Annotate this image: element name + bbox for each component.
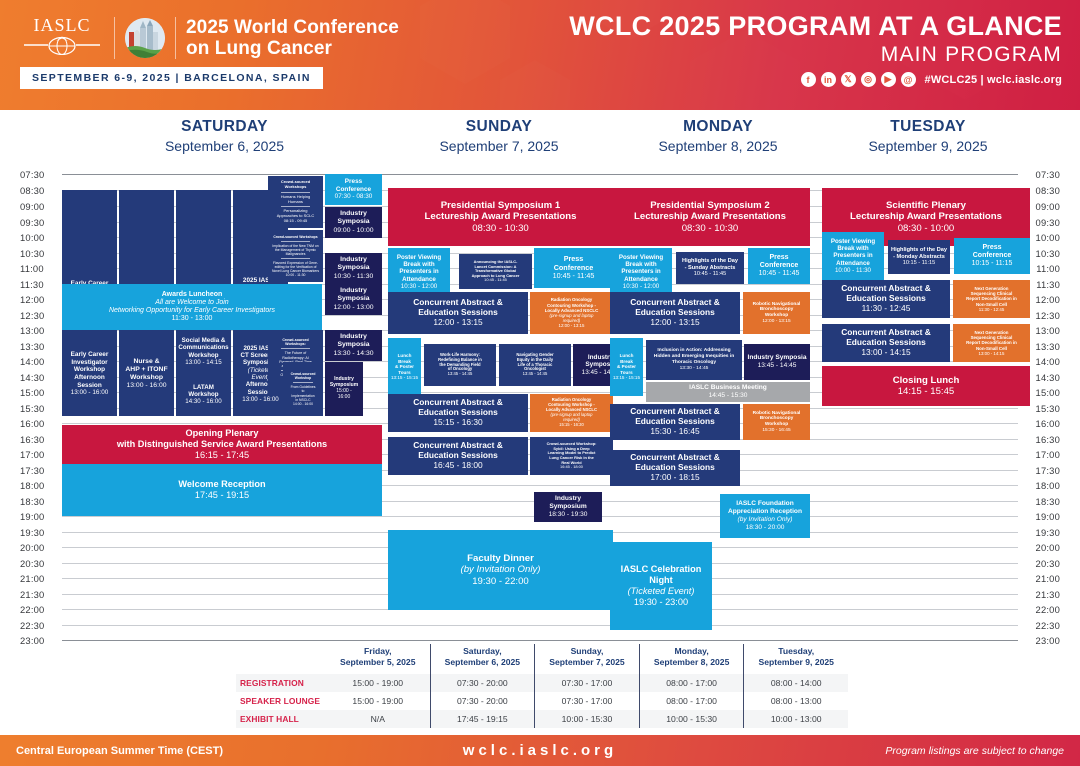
youtube-icon[interactable]: ▶ (881, 72, 896, 87)
conference-name: 2025 World Conference on Lung Cancer (186, 17, 399, 60)
table-header-row: Friday,September 5, 2025Saturday,Septemb… (236, 644, 848, 674)
column-header: Friday,September 5, 2025 (326, 644, 430, 674)
event-title: Opening Plenarywith Distinguished Servic… (117, 428, 327, 450)
day-date: September 9, 2025 (822, 138, 1034, 154)
divider-2 (175, 17, 176, 59)
time-label-1730: 17:30 (1036, 465, 1060, 476)
hours-cell: 10:00 - 15:30 (639, 710, 744, 728)
event-block-mon-ind1[interactable]: Industry Symposia13:45 - 14:45 (744, 344, 810, 380)
divider-2 (281, 258, 310, 259)
event-time: 14:45 - 15:30 (709, 392, 748, 400)
event-time: 13:15 - 15:15 (391, 375, 418, 380)
event-title: Robotic NavigationalBronchoscopyWorkshop (753, 302, 801, 319)
event-title: Navigating GenderEquity in the DailyLife… (516, 353, 553, 373)
facebook-icon[interactable]: f (801, 72, 816, 87)
time-label-1130: 11:30 (1036, 279, 1060, 290)
event-block-sat-eci-pm[interactable]: Early CareerInvestigatorWorkshopAfternoo… (62, 332, 117, 416)
event-block-sun-lunch[interactable]: LunchBreak& PosterTours13:15 - 15:15 (388, 338, 421, 396)
event-time: 13:15 - 15:15 (613, 375, 640, 380)
event-title: Early CareerInvestigatorWorkshop (71, 351, 109, 374)
conference-name-line1: 2025 World Conference (186, 17, 399, 38)
time-label-1500: 15:00 (1036, 387, 1060, 398)
time-label-1300: 13:00 (1036, 325, 1060, 336)
time-label-1400: 14:00 (20, 356, 44, 367)
event-title: Welcome Reception (178, 479, 265, 490)
instagram-icon[interactable]: ◎ (861, 72, 876, 87)
event-block-sun-worklife[interactable]: Work-Life Harmony:Redefining Balance int… (424, 344, 496, 386)
divider-2 (281, 206, 310, 207)
page-title: WCLC 2025 PROGRAM AT A GLANCE (569, 12, 1062, 41)
event-time: 13:00 - 14:15 (861, 348, 910, 358)
divider (281, 241, 310, 242)
event-block-mon-caes1[interactable]: Concurrent Abstract &Education Sessions1… (610, 292, 740, 334)
event-title: IASLC Business Meeting (689, 384, 767, 392)
iaslc-logo: IASLC (20, 16, 104, 60)
event-time: 13:00 - 14:15 (185, 359, 221, 366)
event-time: 15:30 - 16:45 (650, 427, 699, 437)
day-header-tuesday: TUESDAY September 9, 2025 (822, 118, 1034, 154)
event-title: Robotic NavigationalBronchoscopyWorkshop (753, 411, 801, 428)
event-time: 07:30 - 08:30 (335, 193, 373, 201)
event-title: IndustrySymposia (337, 287, 369, 303)
row-label: EXHIBIT HALL (236, 710, 326, 728)
event-block-mon-robo2[interactable]: Robotic NavigationalBronchoscopyWorkshop… (743, 404, 810, 440)
time-label-0930: 09:30 (20, 217, 44, 228)
event-title: Concurrent Abstract &Education Sessions (841, 328, 931, 348)
day-header-saturday: SATURDAY September 6, 2025 (62, 118, 387, 154)
column-header: Sunday,September 7, 2025 (535, 644, 640, 674)
threads-icon[interactable]: @ (901, 72, 916, 87)
event-time: 13:00 - 16:00 (126, 382, 166, 390)
time-label-1000: 10:00 (20, 232, 44, 243)
event-time: 12:00 - 13:15 (650, 318, 699, 328)
event-time: 14:00 - 16:00 (293, 402, 313, 406)
time-label-1900: 19:00 (1036, 511, 1060, 522)
event-title: Social Media &CommunicationsWorkshop (178, 337, 228, 359)
event-time: 13:45 - 14:45 (758, 362, 797, 370)
time-label-1730: 17:30 (20, 465, 44, 476)
hours-cell: 08:00 - 13:00 (744, 692, 848, 710)
event-title: Radiation OncologyContouring Workshop -L… (545, 297, 599, 313)
event-title: Presidential Symposium 2Lectureship Awar… (634, 200, 786, 223)
event-title: Concurrent Abstract &Education Sessions (630, 407, 720, 427)
event-block-sat-cs4[interactable]: Crowd-sourcedWorkshopFrom GuidelinestoIm… (283, 362, 323, 416)
time-label-2030: 20:30 (20, 558, 44, 569)
venue-hours-table: Friday,September 5, 2025Saturday,Septemb… (236, 644, 848, 728)
event-block-sun-press[interactable]: PressConference10:45 - 11:45 (534, 248, 613, 288)
event-title: Crowd-sourced Workshops (273, 235, 317, 239)
event-block-tue-ngs1[interactable]: Next GenerationSequencing ClinicalReport… (953, 280, 1030, 318)
hours-cell: 07:30 - 17:00 (535, 692, 640, 710)
day-headers: SATURDAY September 6, 2025 SUNDAY Septem… (0, 118, 1080, 166)
event-title: Announcing the IASLC-Lancet Commission: … (472, 260, 520, 278)
day-name: SUNDAY (388, 118, 610, 136)
event-time: 08:30 - 10:30 (472, 223, 529, 234)
date-location-badge: SEPTEMBER 6-9, 2025 | BARCELONA, SPAIN (20, 67, 323, 89)
event-title: LunchBreak& PosterTours (617, 353, 636, 375)
event-time: 11:30 - 13:00 (172, 315, 213, 323)
event-title: Highlights of the Day- Monday Abstracts (891, 247, 947, 260)
event-block-sun-rad1[interactable]: Radiation OncologyContouring Workshop -L… (530, 292, 613, 334)
event-title: IASLC FoundationAppreciation Reception (728, 500, 802, 516)
time-label-1600: 16:00 (20, 418, 44, 429)
hours-cell: 08:00 - 17:00 (639, 674, 744, 692)
event-block-sun-dinner[interactable]: Faculty Dinner(by Invitation Only)19:30 … (388, 530, 613, 610)
hashtag-label: #WCLC25 | wclc.iaslc.org (925, 74, 1062, 86)
event-title: IndustrySymposia (337, 210, 369, 226)
event-block-sun-lancet[interactable]: Announcing the IASLC-Lancet Commission: … (459, 254, 532, 289)
hours-cell: 07:30 - 20:00 (430, 674, 535, 692)
event-time: 09:00 - 10:00 (333, 227, 373, 235)
event-time: 13:00 - 16:00 (71, 389, 109, 397)
hours-cell: 15:00 - 19:00 (326, 692, 430, 710)
event-title: Next GenerationSequencing ClinicalReport… (966, 286, 1017, 307)
divider (281, 192, 310, 193)
time-label-1030: 10:30 (20, 248, 44, 259)
event-title: Radiation OncologyContouring Workshop -L… (546, 398, 597, 413)
time-label-0730: 07:30 (1036, 169, 1060, 180)
event-time: 10:45 - 11:45 (484, 278, 507, 283)
divider (293, 382, 313, 383)
event-block-sat-cs1[interactable]: Crowd-sourcedWorkshopsHumans HelpingHuma… (268, 176, 323, 228)
hours-cell: 08:00 - 14:00 (744, 674, 848, 692)
event-title: IASLC CelebrationNight (621, 564, 702, 586)
event-time: 14:15 - 15:45 (898, 386, 955, 397)
social-links: f in 𝕏 ◎ ▶ @ #WCLC25 | wclc.iaslc.org (569, 72, 1062, 87)
event-time: 17:00 - 18:15 (650, 473, 699, 483)
linkedin-icon[interactable]: in (821, 72, 836, 87)
time-label-0900: 09:00 (20, 201, 44, 212)
event-block-sun-caes1[interactable]: Concurrent Abstract &Education Sessions1… (388, 292, 528, 334)
time-label-1530: 15:30 (20, 403, 44, 414)
time-label-1130: 11:30 (20, 279, 44, 290)
table-body: REGISTRATION15:00 - 19:0007:30 - 20:0007… (236, 674, 848, 728)
page-subtitle: MAIN PROGRAM (569, 42, 1062, 67)
column-header: Tuesday,September 9, 2025 (744, 644, 848, 674)
hours-cell: 07:30 - 20:00 (430, 692, 535, 710)
event-block-sat-social[interactable]: Social Media &CommunicationsWorkshop13:0… (176, 332, 231, 371)
grid-line (62, 625, 1018, 626)
divider (114, 17, 115, 59)
event-time: 13:30 - 14:30 (333, 350, 373, 358)
event-title: Poster ViewingBreak withPresenters inAtt… (831, 238, 875, 267)
event-block-tue-closing[interactable]: Closing Lunch14:15 - 15:45 (822, 366, 1030, 406)
event-time: 08:30 - 10:00 (898, 223, 955, 234)
event-time: 13:45 - 14:45 (523, 372, 548, 377)
event-block-mon-business[interactable]: IASLC Business Meeting14:45 - 15:30 (646, 382, 810, 402)
time-label-1030: 10:30 (1036, 248, 1060, 259)
event-title: Concurrent Abstract &Education Sessions (841, 284, 931, 304)
event-title: PressConference (973, 244, 1012, 261)
event-block-tue-caes2[interactable]: Concurrent Abstract &Education Sessions1… (822, 324, 950, 362)
event-block-sat-opening[interactable]: Opening Plenarywith Distinguished Servic… (62, 425, 382, 464)
event-time: 15:00 -16:00 (336, 389, 352, 401)
x-twitter-icon[interactable]: 𝕏 (841, 72, 856, 87)
time-label-1200: 12:00 (20, 294, 44, 305)
time-label-2000: 20:00 (20, 542, 44, 553)
event-block-sun-gender[interactable]: Navigating GenderEquity in the DailyLife… (499, 344, 571, 386)
event-block-sat-ind1[interactable]: IndustrySymposia09:00 - 10:00 (325, 207, 382, 238)
time-label-1500: 15:00 (20, 387, 44, 398)
time-label-2200: 22:00 (1036, 604, 1060, 615)
event-block-mon-celebration[interactable]: IASLC CelebrationNight(Ticketed Event)19… (610, 542, 712, 630)
event-time: 18:30 - 19:30 (549, 511, 588, 519)
divider (281, 348, 310, 349)
row-label: SPEAKER LOUNGE (236, 692, 326, 710)
time-label-1300: 13:00 (20, 325, 44, 336)
time-label-1930: 19:30 (1036, 527, 1060, 538)
time-label-2100: 21:00 (20, 573, 44, 584)
event-block-mon-press[interactable]: PressConference10:45 - 11:45 (748, 248, 810, 284)
event-subtitle: All are Welcome to JoinNetworking Opport… (109, 299, 275, 316)
time-label-1330: 13:30 (1036, 341, 1060, 352)
event-title: Closing Lunch (893, 375, 960, 386)
event-title: Scientific PlenaryLectureship Award Pres… (850, 200, 1002, 223)
time-label-1400: 14:00 (1036, 356, 1060, 367)
time-label-2130: 21:30 (1036, 589, 1060, 600)
event-subtitle: (Ticketed Event) (628, 586, 695, 597)
event-time: 16:45 - 18:00 (560, 465, 583, 470)
event-title: Concurrent Abstract &Education Sessions (630, 298, 720, 318)
time-label-1830: 18:30 (1036, 496, 1060, 507)
hours-cell: 15:00 - 19:00 (326, 674, 430, 692)
event-title: Concurrent Abstract &Education Sessions (413, 298, 503, 318)
event-time: 12:00 - 13:15 (433, 318, 482, 328)
event-subtitle: (by Invitation Only) (461, 564, 541, 575)
time-label-2230: 22:30 (20, 620, 44, 631)
event-time: 08:30 - 10:30 (682, 223, 739, 234)
event-block-mon-inclusion[interactable]: Inclusion in Action: AddressingHidden an… (646, 340, 742, 380)
event-title: IndustrySymposium (549, 495, 586, 511)
event-title: Highlights of the Day- Sunday Abstracts (682, 258, 738, 271)
event-time: 10:30 - 12:00 (401, 283, 437, 290)
event-subtitle: (by Invitation Only) (738, 516, 793, 524)
time-label-1830: 18:30 (20, 496, 44, 507)
event-time: 13:00 - 16:00 (242, 396, 278, 403)
hours-cell: 10:00 - 13:00 (744, 710, 848, 728)
event-time: 13:00 - 14:15 (979, 351, 1005, 356)
event-block-sat-ind4[interactable]: IndustrySymposia13:30 - 14:30 (325, 330, 382, 361)
event-title: Concurrent Abstract &Education Sessions (413, 441, 503, 461)
event-title: Poster ViewingBreak withPresenters inAtt… (619, 254, 663, 283)
time-label-1230: 12:30 (1036, 310, 1060, 321)
day-header-monday: MONDAY September 8, 2025 (610, 118, 826, 154)
time-label-1330: 13:30 (20, 341, 44, 352)
barcelona-skyline-icon (125, 18, 165, 58)
time-label-0900: 09:00 (1036, 201, 1060, 212)
event-title: LATAMWorkshop (188, 384, 218, 399)
time-label-1100: 11:00 (20, 263, 44, 274)
event-time: 10:15 - 11:15 (972, 260, 1013, 268)
event-block-mon-caes3[interactable]: Concurrent Abstract &Education Sessions1… (610, 450, 740, 486)
disclaimer-label: Program listings are subject to change (885, 745, 1064, 757)
event-detail: Implication of the New TNM on the Manage… (270, 244, 321, 256)
event-title: Crowd-sourcedWorkshops (281, 180, 310, 189)
event-block-sat-ind5[interactable]: IndustrySymposium15:00 -16:00 (325, 362, 363, 416)
time-label-1900: 19:00 (20, 511, 44, 522)
iaslc-globe-icon (20, 35, 104, 60)
time-label-1230: 12:30 (20, 310, 44, 321)
event-block-sat-awards[interactable]: Awards LuncheonAll are Welcome to JoinNe… (62, 284, 322, 330)
event-block-sat-cs2[interactable]: Crowd-sourced WorkshopsImplication of th… (268, 230, 323, 282)
hours-cell: 07:30 - 17:00 (535, 674, 640, 692)
time-label-1430: 14:30 (20, 372, 44, 383)
event-time: 19:30 - 22:00 (472, 576, 529, 587)
event-title: Concurrent Abstract &Education Sessions (413, 398, 503, 418)
time-label-1430: 14:30 (1036, 372, 1060, 383)
event-block-mon-high[interactable]: Highlights of the Day- Sunday Abstracts1… (676, 252, 744, 284)
event-time: 10:45 - 11:45 (694, 271, 727, 278)
time-label-1630: 16:30 (1036, 434, 1060, 445)
event-time: 17:45 - 19:15 (195, 490, 249, 501)
hours-cell: 17:45 - 19:15 (430, 710, 535, 728)
event-time: 14:30 - 16:00 (185, 398, 221, 405)
event-block-sat-ind2[interactable]: IndustrySymposia10:30 - 11:30 (325, 253, 382, 284)
event-block-sun-ind2[interactable]: IndustrySymposium18:30 - 19:30 (534, 492, 602, 522)
brand-block: IASLC (20, 16, 399, 89)
event-block-mon-robo1[interactable]: Robotic NavigationalBronchoscopyWorkshop… (743, 292, 810, 334)
event-time: 12:00 - 13:15 (762, 319, 790, 325)
day-date: September 8, 2025 (610, 138, 826, 154)
event-block-sat-ind3[interactable]: IndustrySymposia12:00 - 13:00 (325, 284, 382, 315)
event-title: Nurse &AHP + ITONFWorkshop (125, 358, 167, 382)
event-title: IndustrySymposia (337, 333, 369, 349)
column-header (236, 644, 326, 674)
event-block-mon-lunch[interactable]: LunchBreak& PosterTours13:15 - 15:15 (610, 338, 643, 396)
event-block-tue-poster[interactable]: Poster ViewingBreak withPresenters inAtt… (822, 232, 884, 280)
table-row: EXHIBIT HALLN/A17:45 - 19:1510:00 - 15:3… (236, 710, 848, 728)
event-time: 11:30 - 12:45 (862, 304, 911, 314)
event-title: Crowd-sourcedWorkshops: (282, 338, 308, 346)
time-label-1700: 17:00 (20, 449, 44, 460)
event-block-mon-caes2[interactable]: Concurrent Abstract &Education Sessions1… (610, 404, 740, 440)
day-header-sunday: SUNDAY September 7, 2025 (388, 118, 610, 154)
time-label-0930: 09:30 (1036, 217, 1060, 228)
event-time: 18:30 - 20:00 (746, 524, 785, 532)
event-block-tue-press[interactable]: PressConference10:15 - 11:15 (954, 238, 1030, 274)
event-block-tue-high[interactable]: Highlights of the Day- Monday Abstracts1… (888, 240, 950, 274)
event-session: AfternoonSession (74, 374, 105, 389)
time-label-2300: 23:00 (20, 635, 44, 646)
event-time: 11:30 - 12:45 (979, 307, 1005, 312)
event-title: Crowd-sourced Workshop:Sybil: Using a De… (547, 442, 597, 465)
day-name: TUESDAY (822, 118, 1034, 136)
page-header: IASLC (0, 0, 1080, 110)
table-row: REGISTRATION15:00 - 19:0007:30 - 20:0007… (236, 674, 848, 692)
event-time: 19:30 - 23:00 (634, 597, 688, 608)
time-label-0830: 08:30 (20, 185, 44, 196)
time-label-1100: 11:00 (1036, 263, 1060, 274)
event-time: 10:30 - 11:30 (334, 273, 374, 281)
time-label-1530: 15:30 (1036, 403, 1060, 414)
event-detail: Humans HelpingHumans (281, 195, 311, 204)
event-title: Work-Life Harmony:Redefining Balance int… (438, 353, 482, 373)
event-time: 13:30 - 14:45 (680, 366, 709, 372)
event-time: 15:15 - 16:30 (559, 423, 584, 428)
column-header: Monday,September 8, 2025 (639, 644, 744, 674)
time-label-1700: 17:00 (1036, 449, 1060, 460)
event-title: Industry Symposia (748, 354, 807, 362)
time-label-0830: 08:30 (1036, 185, 1060, 196)
event-block-sun-ps1[interactable]: Presidential Symposium 1Lectureship Awar… (388, 188, 613, 246)
iaslc-wordmark: IASLC (20, 16, 104, 34)
header-title-block: WCLC 2025 PROGRAM AT A GLANCE MAIN PROGR… (569, 12, 1062, 87)
event-title: Concurrent Abstract &Education Sessions (630, 453, 720, 473)
event-block-sun-poster[interactable]: Poster ViewingBreak withPresenters inAtt… (388, 248, 450, 296)
event-time: 10:15 - 11:15 (903, 260, 936, 267)
event-title: PressConference (554, 255, 594, 272)
event-block-mon-ps2[interactable]: Presidential Symposium 2Lectureship Awar… (610, 188, 810, 246)
event-time: 10:45 - 11:45 (759, 270, 800, 278)
time-label-2000: 20:00 (1036, 542, 1060, 553)
page-footer: Central European Summer Time (CEST) wclc… (0, 735, 1080, 766)
event-time: 10:00 - 11:30 (286, 273, 306, 277)
hours-cell: N/A (326, 710, 430, 728)
hours-cell: 10:00 - 15:30 (535, 710, 640, 728)
time-label-1600: 16:00 (1036, 418, 1060, 429)
event-title: Poster ViewingBreak withPresenters inAtt… (397, 254, 441, 283)
time-label-2300: 23:00 (1036, 635, 1060, 646)
event-block-mon-foundation[interactable]: IASLC FoundationAppreciation Reception(b… (720, 494, 810, 538)
event-time: 10:45 - 11:45 (553, 272, 595, 280)
event-block-sun-sybil[interactable]: Crowd-sourced Workshop:Sybil: Using a De… (530, 437, 613, 475)
event-block-tue-ngs2[interactable]: Next GenerationSequencing ClinicalReport… (953, 324, 1030, 362)
event-block-tue-caes1[interactable]: Concurrent Abstract &Education Sessions1… (822, 280, 950, 318)
event-title: Inclusion in Action: AddressingHidden an… (654, 348, 734, 365)
event-title: IndustrySymposia (337, 256, 369, 272)
event-time: 10:00 - 11:30 (835, 267, 871, 274)
time-label-1200: 12:00 (1036, 294, 1060, 305)
event-title: Faculty Dinner (467, 553, 534, 564)
day-name: SATURDAY (62, 118, 387, 136)
event-time: 15:30 - 16:45 (762, 428, 790, 434)
event-time: 16:15 - 17:45 (195, 450, 249, 461)
table-row: SPEAKER LOUNGE15:00 - 19:0007:30 - 20:00… (236, 692, 848, 710)
conference-name-line2: on Lung Cancer (186, 38, 399, 59)
time-label-1800: 18:00 (1036, 480, 1060, 491)
time-label-2200: 22:00 (20, 604, 44, 615)
time-label-1630: 16:30 (20, 434, 44, 445)
row-label: REGISTRATION (236, 674, 326, 692)
event-block-sat-welcome[interactable]: Welcome Reception17:45 - 19:15 (62, 464, 382, 516)
event-title: Presidential Symposium 1Lectureship Awar… (425, 200, 577, 223)
event-time: 16:45 - 18:00 (433, 461, 482, 471)
event-block-mon-poster[interactable]: Poster ViewingBreak withPresenters inAtt… (610, 248, 672, 296)
event-time: 08:15 - 09:45 (284, 219, 308, 224)
grid-line (62, 640, 1018, 641)
event-title: Next GenerationSequencing ClinicalReport… (966, 330, 1017, 351)
schedule-grid: 07:3007:3008:3008:3009:0009:0009:3009:30… (0, 168, 1080, 638)
time-label-2230: 22:30 (1036, 620, 1060, 631)
event-block-sun-caes3[interactable]: Concurrent Abstract &Education Sessions1… (388, 437, 528, 475)
event-block-sat-latam[interactable]: LATAMWorkshop14:30 - 16:00 (176, 373, 231, 416)
day-date: September 7, 2025 (388, 138, 610, 154)
time-label-1800: 18:00 (20, 480, 44, 491)
time-label-2100: 21:00 (1036, 573, 1060, 584)
time-label-2130: 21:30 (20, 589, 44, 600)
event-block-sat-press[interactable]: PressConference07:30 - 08:30 (325, 174, 382, 205)
event-block-sat-nurse[interactable]: Nurse &AHP + ITONFWorkshop13:00 - 16:00 (119, 332, 174, 416)
event-title: Crowd-sourcedWorkshop (291, 372, 316, 380)
day-name: MONDAY (610, 118, 826, 136)
event-title: PressConference (336, 178, 371, 193)
event-block-sun-caes2[interactable]: Concurrent Abstract &Education Sessions1… (388, 394, 528, 432)
event-time: 13:45 - 14:45 (448, 372, 473, 377)
event-block-sun-rad2[interactable]: Radiation OncologyContouring Workshop -L… (530, 394, 613, 432)
event-detail: From GuidelinestoImplementationin NSCLC (291, 385, 316, 401)
time-label-2030: 20:30 (1036, 558, 1060, 569)
day-date: September 6, 2025 (62, 138, 387, 154)
